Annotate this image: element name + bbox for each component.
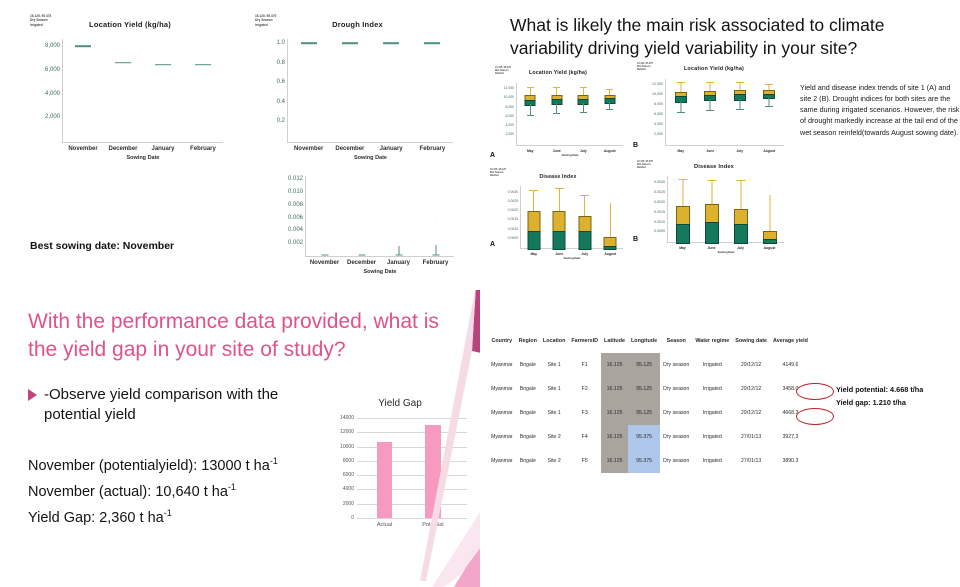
data-whisker (435, 245, 436, 255)
data-marker (358, 255, 365, 256)
boxplot (734, 79, 746, 145)
y-tick: 0.008 (288, 202, 303, 208)
chart-corner-note: 16.125, 95.125 Wet Season Rainfed (495, 66, 511, 76)
y-tick: 1.0 (277, 40, 285, 46)
panel-letter-a: A (490, 241, 495, 248)
stat-label: Yield Gap: 2,360 t ha (28, 510, 164, 526)
data-marker (155, 64, 171, 66)
cell-sowing-date: 27/01/13 (732, 425, 770, 449)
plot-area: 0.0030 0.0025 0.0020 0.0015 0.0010 0.000… (520, 186, 623, 249)
cell-country: Myanmar (488, 449, 516, 473)
boxplot (551, 83, 562, 145)
x-axis-label: Sowing Date (517, 153, 623, 157)
panel-letter-b: B (633, 236, 638, 243)
cell-longitude: 95.125 (628, 353, 660, 377)
cell-farmers-id: F2 (568, 377, 601, 401)
boxplot (578, 186, 591, 248)
plot-area: 0.012 0.010 0.008 0.006 0.004 0.002 ··· … (305, 176, 454, 257)
cell-country: Myanmar (488, 353, 516, 377)
chart-title: Disease Index (635, 164, 793, 170)
col-country: Country (488, 338, 516, 353)
cell-latitude: 16.125 (601, 425, 628, 449)
col-season: Season (660, 338, 692, 353)
y-tick: 0.0005 (508, 236, 518, 240)
chart-title: Drough Index (255, 20, 460, 29)
cell-longitude: 95.125 (628, 401, 660, 425)
col-location: Location (540, 338, 568, 353)
x-axis-label: Sowing Date (306, 269, 454, 275)
cell-longitude: 95.375 (628, 449, 660, 473)
chart-disease-site1: Disease Index 16.125, 95.125 Wet Season … (488, 168, 628, 268)
x-tick: January (151, 146, 174, 152)
y-tick: 0.0030 (508, 190, 518, 194)
cell-average-yield: 4149.6 (770, 353, 811, 377)
y-tick: 2,000 (654, 132, 663, 136)
cell-region: Bogale (516, 377, 540, 401)
cell-longitude: 95.375 (628, 425, 660, 449)
y-tick: 0.0025 (508, 199, 518, 203)
y-tick: 6000 (343, 472, 354, 478)
stat-yield-gap: Yield Gap: 2,360 t ha-1 (28, 508, 172, 526)
cell-country: Myanmar (488, 425, 516, 449)
y-tick: 2,000 (506, 132, 515, 136)
cell-water-regime: Irrigated (692, 449, 732, 473)
y-tick: 0.6 (277, 79, 285, 85)
data-marker (383, 42, 399, 44)
y-tick: 0 (351, 515, 354, 521)
cell-country: Myanmar (488, 377, 516, 401)
annotation-yield-gap: Yield gap: 1.210 t/ha (836, 398, 906, 407)
performance-table: Country Region Location FarmersID Latitu… (488, 338, 811, 473)
cell-region: Bogale (516, 353, 540, 377)
col-longitude: Longitude (628, 338, 660, 353)
chart-title: Disease Index (488, 174, 628, 180)
x-tick: May (677, 149, 684, 153)
chart-disease-index-small: 0.012 0.010 0.008 0.006 0.004 0.002 ··· … (265, 172, 460, 277)
x-tick: August (763, 149, 775, 153)
boxplot (525, 83, 536, 145)
cell-season: Dry season (660, 353, 692, 377)
cell-season: Dry season (660, 377, 692, 401)
boxplot (734, 176, 748, 242)
cell-farmers-id: F4 (568, 425, 601, 449)
cell-longitude: 95.125 (628, 377, 660, 401)
y-tick: 6,000 (654, 112, 663, 116)
cell-sowing-date: 27/01/13 (732, 449, 770, 473)
decorative-shape-group (420, 290, 480, 587)
y-tick: 10000 (340, 444, 354, 450)
data-marker (75, 45, 91, 47)
chart-corner-note: 16.125, 95.375 Dry Season Irrigated (30, 14, 51, 27)
x-axis-label: Sowing Date (521, 256, 623, 260)
cell-location: Site 2 (540, 449, 568, 473)
cell-latitude: 16.125 (601, 401, 628, 425)
stat-sup: -1 (164, 508, 172, 518)
x-tick: December (108, 146, 137, 152)
x-tick: November (310, 260, 339, 266)
boxplot: ··· (604, 186, 617, 248)
y-tick: 6,000 (506, 114, 515, 118)
x-tick: Actual (377, 522, 392, 528)
data-marker (115, 62, 131, 64)
cell-season: Dry season (660, 425, 692, 449)
x-axis-label: Sowing Date (288, 155, 453, 161)
chart-title: Location Yield (kg/ha) (30, 20, 230, 29)
stat-actual-yield: November (actual): 10,640 t ha-1 (28, 482, 236, 500)
data-marker (195, 64, 211, 66)
y-tick: 0.4 (277, 99, 285, 105)
boxplot (527, 186, 540, 248)
cell-latitude: 16.125 (601, 353, 628, 377)
col-latitude: Latitude (601, 338, 628, 353)
y-tick: 0.0005 (654, 229, 665, 233)
bullet-label: -Observe yield comparison with the poten… (44, 385, 338, 426)
cell-farmers-id: F5 (568, 449, 601, 473)
x-tick: November (294, 146, 323, 152)
cell-average-yield: 3458.0 (770, 377, 811, 401)
y-tick: 2,000 (45, 114, 60, 120)
chart-corner-note: 16.125, 95.375 Wet Season Rainfed (637, 62, 653, 72)
x-tick: June (706, 149, 714, 153)
y-tick: 4,000 (45, 91, 60, 97)
annotation-yield-potential: Yield potential: 4.668 t/ha (836, 385, 923, 394)
panel-letter-b: B (633, 142, 638, 149)
stat-potential-yield: November (potentialyield): 13000 t ha-1 (28, 456, 278, 474)
y-tick: 0.0015 (654, 210, 665, 214)
plot-area: 0.0030 0.0025 0.0020 0.0015 0.0010 0.000… (667, 176, 784, 243)
cell-location: Site 1 (540, 377, 568, 401)
figure-caption: Yield and disease index trends of site 1… (800, 82, 960, 138)
boxplot (676, 176, 690, 242)
cell-sowing-date: 29/12/12 (732, 353, 770, 377)
y-tick: 0.0015 (508, 217, 518, 221)
boxplot: ··· (763, 176, 777, 242)
boxplot (763, 79, 775, 145)
y-tick: 0.2 (277, 118, 285, 124)
cell-water-regime: Irrigated (692, 425, 732, 449)
stat-sup: -1 (270, 456, 278, 466)
best-sowing-date-text: Best sowing date: November (30, 240, 174, 252)
x-tick: February (423, 260, 449, 266)
y-tick: 0.0030 (654, 180, 665, 184)
page-title: With the performance data provided, what… (28, 308, 448, 363)
y-tick: 8,000 (45, 43, 60, 49)
x-tick: January (387, 260, 410, 266)
y-tick: 8,000 (654, 102, 663, 106)
x-axis-label: Sowing Date (63, 155, 223, 161)
x-tick: July (736, 149, 743, 153)
y-tick: 14000 (340, 415, 354, 421)
x-tick: February (190, 146, 216, 152)
boxplot (704, 79, 716, 145)
cell-water-regime: Irrigated (692, 401, 732, 425)
y-tick: 8000 (343, 458, 354, 464)
plot-area: 12,000 10,000 8,000 6,000 4,000 2,000 (516, 83, 623, 146)
plot-area: 12,000 10,000 8,000 6,000 4,000 2,000 (665, 79, 784, 146)
cell-sowing-date: 29/12/12 (732, 401, 770, 425)
slide-performance-table: Country Region Location FarmersID Latitu… (480, 290, 960, 587)
slide-climate-risk: What is likely the main risk associated … (480, 0, 960, 290)
x-tick: January (380, 146, 403, 152)
data-marker (342, 42, 358, 44)
y-tick: 0.0020 (508, 208, 518, 212)
data-outliers: ··· (435, 218, 436, 224)
page-title: What is likely the main risk associated … (510, 14, 935, 60)
chart-title: Location Yield (kg/ha) (635, 66, 793, 72)
table-row[interactable]: Myanmar Bogale Site 2 F4 16.125 95.375 D… (488, 425, 811, 449)
chart-corner-note: 16.125, 95.125 Wet Season Rainfed (490, 168, 506, 178)
boxplot (705, 176, 719, 242)
y-tick: 12000 (340, 429, 354, 435)
x-tick: December (347, 260, 376, 266)
cell-location: Site 1 (540, 353, 568, 377)
boxplot (578, 83, 589, 145)
cell-location: Site 1 (540, 401, 568, 425)
cell-latitude: 16.125 (601, 449, 628, 473)
y-tick: 4,000 (506, 123, 515, 127)
y-tick: 0.8 (277, 60, 285, 66)
cell-water-regime: Irrigated (692, 377, 732, 401)
cell-region: Bogale (516, 401, 540, 425)
chart-disease-site2: Disease Index 16.125, 95.375 Wet Season … (635, 158, 793, 268)
table-header-row: Country Region Location FarmersID Latitu… (488, 338, 811, 353)
x-tick: December (335, 146, 364, 152)
y-tick: 8,000 (506, 105, 515, 109)
boxplot (553, 186, 566, 248)
cell-location: Site 2 (540, 425, 568, 449)
table-row[interactable]: Myanmar Bogale Site 1 F3 16.125 95.125 D… (488, 401, 811, 425)
cell-season: Dry season (660, 401, 692, 425)
y-tick: 10,000 (504, 95, 514, 99)
data-marker (321, 255, 328, 256)
cell-region: Bogale (516, 449, 540, 473)
y-tick: 0.004 (288, 227, 303, 233)
y-tick: 12,000 (652, 82, 663, 86)
y-tick: 12,000 (504, 86, 514, 90)
plot-area: 1.0 0.8 0.6 0.4 0.2 November December Ja… (287, 39, 453, 143)
y-tick: 4000 (343, 486, 354, 492)
y-tick: 0.0025 (654, 190, 665, 194)
col-region: Region (516, 338, 540, 353)
y-tick: 6,000 (45, 67, 60, 73)
table-row[interactable]: Myanmar Bogale Site 1 F2 16.125 95.125 D… (488, 377, 811, 401)
x-tick: February (420, 146, 446, 152)
cell-average-yield: 3890.3 (770, 449, 811, 473)
y-tick: 0.0010 (654, 220, 665, 224)
stat-label: November (potentialyield): 13000 t ha (28, 458, 270, 474)
chart-location-yield-dry: Location Yield (kg/ha) 16.125, 95.375 Dr… (30, 14, 230, 164)
boxplot (675, 79, 687, 145)
slide-site-performance: Location Yield (kg/ha) 16.125, 95.375 Dr… (0, 0, 480, 290)
data-marker (424, 42, 440, 44)
boxplot (604, 83, 615, 145)
table-row[interactable]: Myanmar Bogale Site 2 F5 16.125 95.375 D… (488, 449, 811, 473)
plot-area: 8,000 6,000 4,000 2,000 November Decembe… (62, 39, 223, 143)
x-tick: November (68, 146, 97, 152)
col-farmers-id: FarmersID (568, 338, 601, 353)
y-tick: 0.002 (288, 240, 303, 246)
chart-yield-site1: Location Yield (kg/ha) 16.125, 95.125 We… (488, 66, 628, 161)
stat-sup: -1 (228, 482, 236, 492)
y-tick: 0.006 (288, 215, 303, 221)
table-row[interactable]: Myanmar Bogale Site 1 F1 16.125 95.125 D… (488, 353, 811, 377)
panel-letter-a: A (490, 152, 495, 159)
bar-actual (377, 442, 392, 518)
x-axis-label: Sowing Date (668, 250, 784, 254)
col-sowing-date: Sowing date (732, 338, 770, 353)
chart-corner-note: 16.125, 95.375 Dry Season Irrigated (255, 14, 276, 27)
y-tick: 0.0020 (654, 200, 665, 204)
cell-season: Dry season (660, 449, 692, 473)
triangle-bullet-icon (28, 389, 37, 401)
col-water-regime: Water regime (692, 338, 732, 353)
cell-country: Myanmar (488, 401, 516, 425)
data-whisker (398, 246, 399, 255)
y-tick: 0.012 (288, 176, 303, 182)
y-tick: 0.010 (288, 189, 303, 195)
cell-sowing-date: 29/12/12 (732, 377, 770, 401)
slide-yield-gap: With the performance data provided, what… (0, 290, 480, 587)
cell-farmers-id: F1 (568, 353, 601, 377)
stat-label: November (actual): 10,640 t ha (28, 484, 228, 500)
cell-farmers-id: F3 (568, 401, 601, 425)
chart-drough-index: Drough Index 16.125, 95.375 Dry Season I… (255, 14, 460, 164)
y-tick: 10,000 (652, 92, 663, 96)
cell-region: Bogale (516, 425, 540, 449)
chart-yield-site2: Location Yield (kg/ha) 16.125, 95.375 We… (635, 62, 793, 162)
chart-corner-note: 16.125, 95.375 Wet Season Rainfed (637, 160, 653, 170)
cell-average-yield: 4668.3 (770, 401, 811, 425)
y-tick: 4,000 (654, 122, 663, 126)
cell-latitude: 16.125 (601, 377, 628, 401)
y-tick: 2000 (343, 501, 354, 507)
data-marker (301, 42, 317, 44)
cell-average-yield: 3927.3 (770, 425, 811, 449)
y-tick: 0.0010 (508, 227, 518, 231)
bullet-item: -Observe yield comparison with the poten… (28, 385, 338, 426)
cell-water-regime: Irrigated (692, 353, 732, 377)
col-average-yield: Average yield (770, 338, 811, 353)
